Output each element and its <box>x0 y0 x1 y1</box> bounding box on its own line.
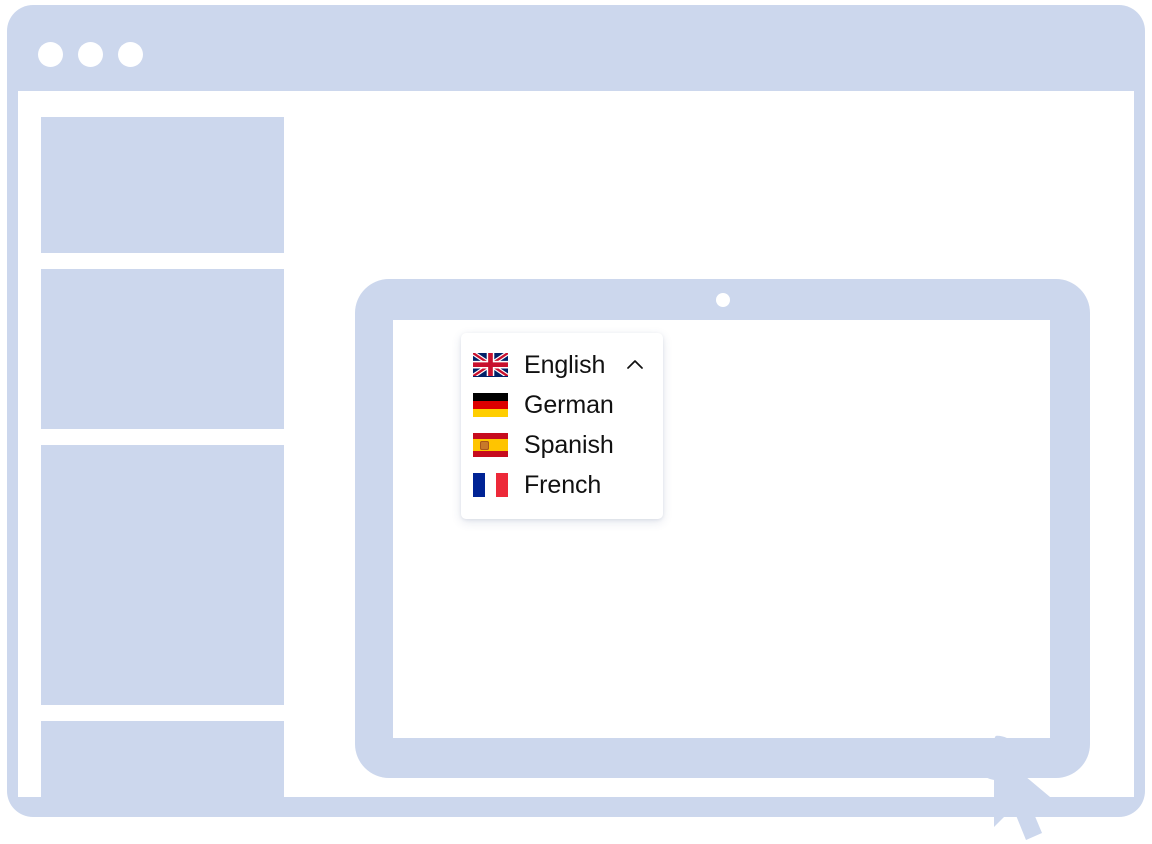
language-option-label: German <box>524 393 614 418</box>
browser-titlebar <box>7 5 1145 91</box>
chevron-up-icon[interactable] <box>623 353 647 377</box>
sidebar-placeholder-block <box>41 721 284 797</box>
language-option-spanish[interactable]: Spanish <box>461 425 663 465</box>
window-minimize-dot[interactable] <box>78 42 103 67</box>
flag-fr-icon <box>473 473 508 497</box>
sidebar <box>41 117 284 797</box>
language-option-french[interactable]: French <box>461 465 663 505</box>
flag-uk-icon <box>473 353 508 377</box>
tablet-device: English German <box>355 279 1090 778</box>
sidebar-placeholder-block <box>41 269 284 429</box>
tablet-camera-icon <box>716 293 730 307</box>
sidebar-placeholder-block <box>41 117 284 253</box>
flag-de-icon <box>473 393 508 417</box>
sidebar-placeholder-block <box>41 445 284 705</box>
language-option-label: English <box>524 353 605 378</box>
language-dropdown-menu[interactable]: English German <box>461 333 663 519</box>
tablet-screen: English German <box>393 320 1050 738</box>
browser-window: English German <box>7 5 1145 817</box>
flag-es-icon <box>473 433 508 457</box>
browser-content-area: English German <box>18 91 1134 797</box>
window-close-dot[interactable] <box>38 42 63 67</box>
window-maximize-dot[interactable] <box>118 42 143 67</box>
mouse-cursor-icon <box>990 748 1064 844</box>
language-option-german[interactable]: German <box>461 385 663 425</box>
language-option-label: French <box>524 473 601 498</box>
language-option-english[interactable]: English <box>461 345 663 385</box>
language-option-label: Spanish <box>524 433 614 458</box>
